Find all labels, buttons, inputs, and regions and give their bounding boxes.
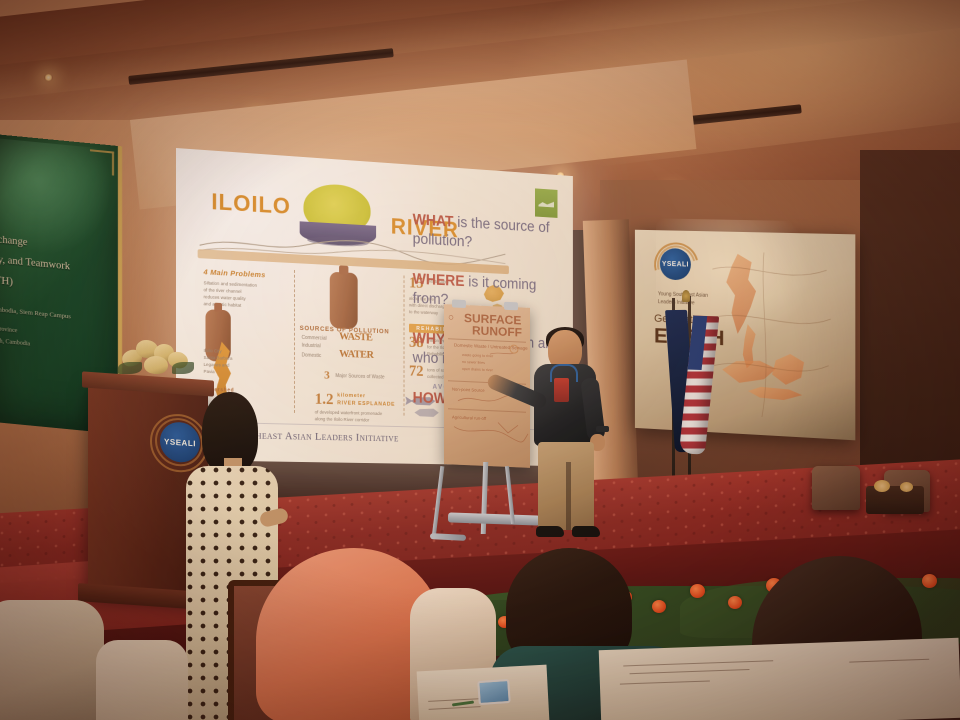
mobile-phone[interactable] — [477, 679, 511, 705]
question-emphasis-why: WHY — [413, 331, 446, 349]
table-notes-line — [630, 669, 750, 674]
question-emphasis-what: WHAT — [413, 212, 454, 231]
flag-stand — [668, 296, 712, 486]
map-label: Iloilo City Santa Barbara Leganes and Pa… — [204, 347, 235, 376]
yseali-logo-text: YSEALI — [662, 260, 689, 268]
audience-table — [599, 638, 960, 720]
table-notes-line — [623, 660, 773, 666]
banner-corner-ornament — [90, 149, 114, 175]
notebook-line — [429, 706, 481, 710]
flower-petal — [144, 356, 169, 375]
column-divider — [294, 270, 295, 413]
table-flower — [900, 482, 913, 492]
bottle-icon — [330, 272, 358, 330]
conference-presentation-scene: ILOILO RIVER 4 Main Problems Siltation a… — [0, 0, 960, 720]
stat-12-label: RIVER ESPLANADE — [337, 400, 395, 407]
yseali-logo: YSEALI — [652, 242, 697, 287]
stat-12-unit: kilometer — [337, 393, 366, 400]
southeast-asia-map — [705, 249, 835, 425]
stat-3-value: 3 — [324, 369, 330, 381]
question-emphasis-how: HOW — [413, 390, 447, 407]
stat-12-value: 1.2 — [315, 392, 334, 408]
presenter-shoe — [572, 526, 600, 537]
flower-foliage — [118, 362, 142, 374]
recessed-downlight — [44, 74, 53, 81]
orange-bloom — [690, 584, 705, 598]
logo-word-iloilo: ILOILO — [211, 188, 291, 220]
source-word-water: WATER — [339, 348, 373, 361]
banner-line-5: m Reap Province — [0, 324, 17, 334]
orange-bloom — [728, 596, 742, 609]
slide-question-what: WHAT is the source of pollution? — [413, 211, 563, 258]
banner-line-3: ARTH) — [0, 273, 13, 288]
table-notes-line — [620, 680, 710, 684]
banner-line-4: ity of Cambodia, Siem Reap Campus — [0, 304, 71, 320]
stat-3-label: Major Sources of Waste — [335, 373, 396, 382]
conference-name-badge — [554, 378, 569, 402]
table-flower — [874, 480, 890, 492]
infographic-column-sources: SOURCES OF POLLUTION Commercial Industri… — [298, 268, 402, 419]
flower-foliage — [172, 362, 194, 374]
map-outline-lines — [705, 249, 835, 425]
banner-line-6: Phnom Penh, Cambodia — [0, 336, 30, 348]
stage-side-table — [866, 486, 924, 514]
audience-person-left-edge — [0, 600, 104, 720]
stat-12-body: of developed waterfront promenade along … — [315, 409, 400, 425]
yseali-logo-disc: YSEALI — [660, 248, 691, 280]
question-emphasis-where: WHERE — [413, 271, 465, 290]
presenter-wristwatch — [596, 426, 609, 432]
podium-flower-arrangement — [118, 336, 196, 378]
banner-line-2: sibility, and Teamwork — [0, 252, 70, 272]
source-label-domestic: Domestic — [302, 352, 340, 361]
audience-person-left-foreground — [96, 640, 188, 720]
presenter-shoe — [536, 526, 564, 537]
audience-body — [0, 600, 104, 720]
audience-body — [96, 640, 188, 720]
green-leaf-badge — [535, 188, 557, 218]
stage-armchair — [812, 466, 860, 510]
source-word-waste: WASTE — [339, 330, 372, 343]
presenter-pointing-at-flipchart — [520, 330, 630, 540]
flag-finial — [682, 290, 690, 302]
presenter-leg-split — [566, 462, 571, 530]
source-label-industrial: Industrial — [302, 343, 340, 352]
column-divider — [404, 275, 405, 415]
heading-main-problems: 4 Main Problems — [204, 267, 266, 279]
table-notes-line — [849, 659, 929, 663]
